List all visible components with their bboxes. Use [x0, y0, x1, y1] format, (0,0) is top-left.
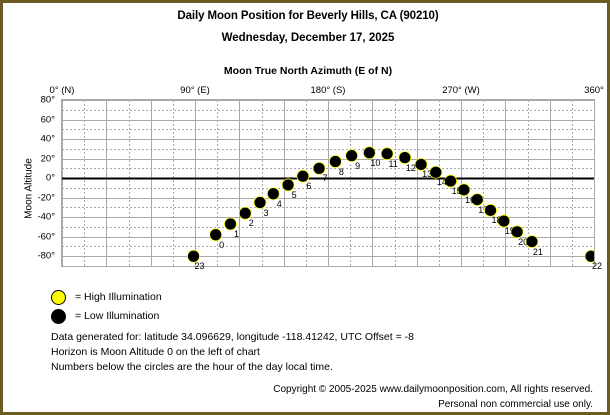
- copyright-line: Copyright © 2005-2025 www.dailymoonposit…: [273, 384, 593, 395]
- page-title: Daily Moon Position for Beverly Hills, C…: [3, 10, 610, 22]
- hour-label-14: 14: [437, 177, 447, 187]
- moon-marker-hour-10: [364, 147, 375, 158]
- moon-marker-hour-7: [314, 163, 325, 174]
- page-subtitle: Wednesday, December 17, 2025: [3, 32, 610, 44]
- note-horizon: Horizon is Moon Altitude 0 on the left o…: [51, 346, 260, 358]
- moon-marker-hour-13: [416, 159, 427, 170]
- moon-marker-hour-23: [188, 251, 199, 262]
- moon-marker-hour-6: [297, 171, 308, 182]
- hour-label-11: 11: [388, 159, 397, 169]
- y-axis-title: Moon Altitude: [24, 114, 35, 264]
- hour-label-21: 21: [533, 247, 543, 257]
- moon-marker-hour-4: [268, 188, 279, 199]
- moon-marker-hour-11: [382, 148, 393, 159]
- legend-low-illumination-label: = Low Illumination: [75, 310, 159, 322]
- usage-line: Personal non commercial use only.: [438, 399, 593, 410]
- hour-label-7: 7: [323, 173, 328, 183]
- moon-marker-hour-5: [283, 179, 294, 190]
- x-axis-title: Moon True North Azimuth (E of N): [3, 65, 610, 77]
- hour-label-23: 23: [195, 261, 205, 271]
- hour-label-9: 9: [355, 161, 360, 171]
- hour-label-20: 20: [518, 237, 528, 247]
- hour-label-15: 15: [452, 186, 462, 196]
- hour-label-19: 19: [505, 226, 515, 236]
- moon-marker-hour-0: [210, 229, 221, 240]
- hour-label-3: 3: [264, 208, 269, 218]
- hour-label-17: 17: [478, 205, 488, 215]
- hour-label-8: 8: [339, 167, 344, 177]
- hour-label-1: 1: [234, 229, 239, 239]
- hour-label-2: 2: [249, 218, 254, 228]
- legend-low-illumination-swatch: [51, 309, 66, 324]
- hour-label-5: 5: [292, 190, 297, 200]
- hour-label-4: 4: [277, 199, 282, 209]
- moon-marker-hour-8: [330, 156, 341, 167]
- hour-label-13: 13: [422, 169, 432, 179]
- note-data-generated: Data generated for: latitude 34.096629, …: [51, 331, 414, 343]
- x-axis-tick-90: 90° (E): [180, 85, 210, 96]
- hour-label-18: 18: [492, 215, 502, 225]
- plot-svg: [62, 100, 594, 266]
- hour-label-10: 10: [370, 158, 380, 168]
- moon-marker-hour-1: [225, 218, 236, 229]
- note-hour-numbers: Numbers below the circles are the hour o…: [51, 361, 333, 373]
- moon-marker-hour-2: [240, 208, 251, 219]
- legend-high-illumination-label: = High Illumination: [75, 291, 162, 303]
- legend-high-illumination-swatch: [51, 290, 66, 305]
- hour-label-6: 6: [306, 181, 311, 191]
- x-axis-tick-270: 270° (W): [442, 85, 480, 96]
- hour-label-0: 0: [219, 240, 224, 250]
- moon-marker-hour-3: [254, 197, 265, 208]
- x-axis-tick-360: 360°: [584, 85, 604, 96]
- hour-label-16: 16: [465, 195, 475, 205]
- moon-position-chart-page: Daily Moon Position for Beverly Hills, C…: [0, 0, 610, 415]
- plot-area: [61, 99, 595, 267]
- moon-marker-hour-9: [346, 150, 357, 161]
- hour-label-12: 12: [406, 163, 416, 173]
- hour-label-22: 22: [592, 261, 602, 271]
- moon-marker-hour-12: [399, 152, 410, 163]
- y-axis-tick-80: 80°: [11, 95, 55, 106]
- x-axis-tick-180: 180° (S): [311, 85, 346, 96]
